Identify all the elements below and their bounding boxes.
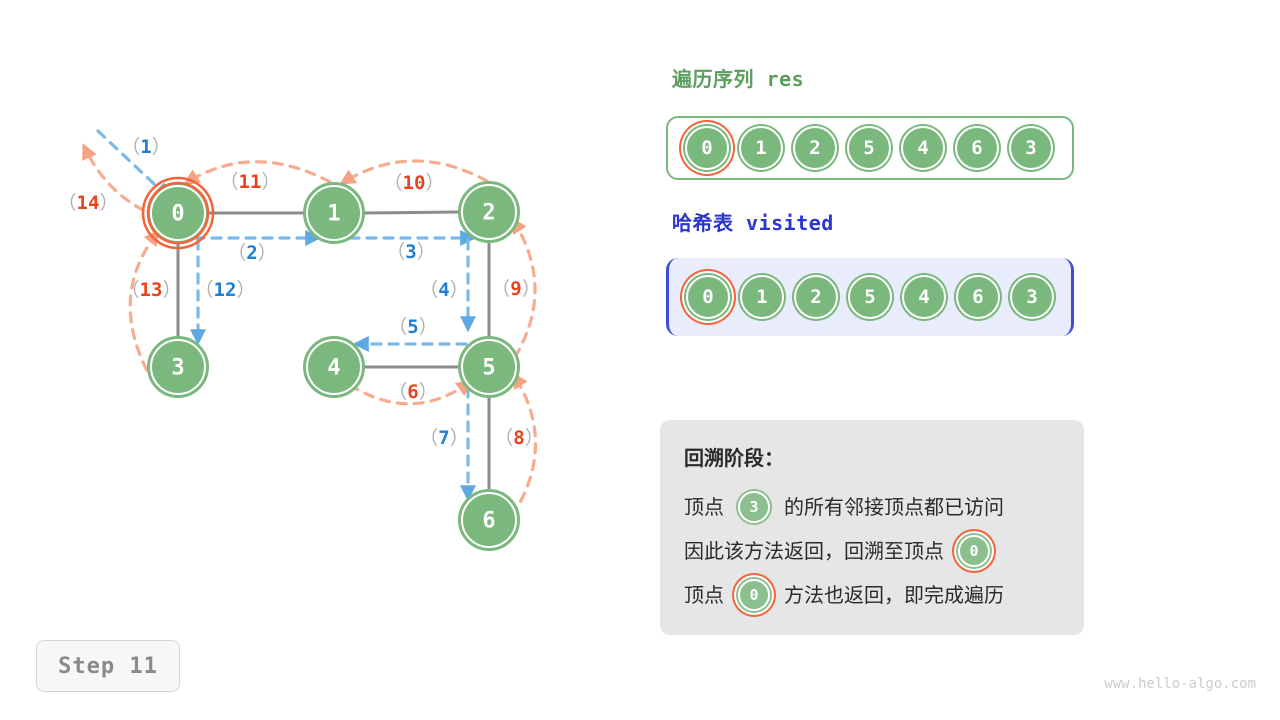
graph-node-3-label: 3: [171, 356, 184, 381]
visited-cell-5[interactable]: 6: [951, 275, 1005, 319]
graph-node-1[interactable]: 1: [304, 183, 364, 243]
step-order-labels: （1） （2） （3） （4） （5） （6） （7） （8） （9） （10）…: [58, 136, 544, 449]
explanation-node-0-line2: 0: [958, 535, 990, 567]
res-node-6: 3: [1009, 126, 1053, 170]
visited-cell-3[interactable]: 5: [843, 275, 897, 319]
visited-node-2: 2: [794, 275, 838, 319]
graph-node-6-label: 6: [482, 509, 495, 534]
res-node-0: 0: [685, 126, 729, 170]
res-title: 遍历序列 res: [672, 63, 804, 92]
step-label-3: （3）: [386, 241, 435, 263]
footer-url: www.hello-algo.com: [1104, 676, 1256, 692]
graph-nodes: 0 1 2 3 4 5: [143, 178, 519, 550]
graph-panel: 0 1 2 3 4 5: [0, 0, 640, 720]
graph-node-2-label: 2: [482, 201, 495, 226]
visited-node-4: 4: [902, 275, 946, 319]
edge-1-2: [364, 212, 459, 213]
graph-node-0-label: 0: [171, 202, 184, 227]
step-badge: Step 11: [36, 640, 180, 692]
explanation-line-2-text-a: 因此该方法返回，回溯至顶点: [684, 541, 944, 561]
visited-cell-2[interactable]: 2: [789, 275, 843, 319]
explanation-line-1-text-a: 顶点: [684, 497, 724, 517]
graph-node-0[interactable]: 0: [143, 178, 213, 248]
res-node-4: 4: [901, 126, 945, 170]
step-label-1: （1）: [121, 136, 170, 158]
step-label-8: （8）: [494, 427, 543, 449]
res-cell-5[interactable]: 6: [950, 126, 1004, 170]
graph-node-4[interactable]: 4: [304, 337, 364, 397]
explanation-line-2: 因此该方法返回，回溯至顶点 0: [684, 529, 1060, 573]
visited-node-3: 5: [848, 275, 892, 319]
graph-node-4-label: 4: [327, 356, 340, 381]
step-label-2: （2）: [227, 242, 276, 264]
explanation-line-1: 顶点 3 的所有邻接顶点都已访问: [684, 485, 1060, 529]
res-cell-1[interactable]: 1: [734, 126, 788, 170]
explanation-line-3-text-b: 方法也返回，即完成遍历: [784, 585, 1004, 605]
step-label-9: （9）: [491, 278, 540, 300]
res-cell-2[interactable]: 2: [788, 126, 842, 170]
res-node-1: 1: [739, 126, 783, 170]
step-label-6: （6）: [388, 381, 437, 403]
step-label-5: （5）: [388, 316, 437, 338]
visited-cell-4[interactable]: 4: [897, 275, 951, 319]
step-label-12: （12）: [195, 279, 256, 301]
right-panel: 遍历序列 res 0 1 2 5 4 6 3 哈希表 visited 0 1 2…: [640, 0, 1280, 720]
visited-node-1: 1: [740, 275, 784, 319]
step-label-10: （10）: [384, 172, 445, 194]
graph-node-1-label: 1: [327, 202, 340, 227]
graph-node-5-label: 5: [482, 356, 495, 381]
explanation-box: 回溯阶段： 顶点 3 的所有邻接顶点都已访问 因此该方法返回，回溯至顶点 0 顶…: [660, 420, 1084, 635]
visited-cell-0[interactable]: 0: [681, 275, 735, 319]
step-label-7: （7）: [419, 427, 468, 449]
step-label-14: （14）: [58, 192, 119, 214]
visited-node-6: 3: [1010, 275, 1054, 319]
res-node-3: 5: [847, 126, 891, 170]
explanation-node-3: 3: [738, 491, 770, 523]
res-node-5: 6: [955, 126, 999, 170]
visited-cell-6[interactable]: 3: [1005, 275, 1059, 319]
graph-node-6[interactable]: 6: [459, 490, 519, 550]
visited-cell-1[interactable]: 1: [735, 275, 789, 319]
explanation-line-3-text-a: 顶点: [684, 585, 724, 605]
dfs-graph-svg: 0 1 2 3 4 5: [0, 0, 640, 720]
explanation-node-0-line3: 0: [738, 579, 770, 611]
res-cell-6[interactable]: 3: [1004, 126, 1058, 170]
step-label-4: （4）: [419, 279, 468, 301]
graph-node-2[interactable]: 2: [459, 182, 519, 242]
visited-title: 哈希表 visited: [672, 207, 834, 236]
explanation-line-1-text-b: 的所有邻接顶点都已访问: [784, 497, 1004, 517]
res-cell-0[interactable]: 0: [680, 126, 734, 170]
res-node-2: 2: [793, 126, 837, 170]
visited-hashset: 0 1 2 5 4 6 3: [666, 258, 1074, 336]
res-cell-3[interactable]: 5: [842, 126, 896, 170]
step-label-11: （11）: [220, 171, 281, 193]
step-label-13: （13）: [121, 279, 182, 301]
visited-node-0: 0: [686, 275, 730, 319]
visited-node-5: 6: [956, 275, 1000, 319]
graph-node-5[interactable]: 5: [459, 337, 519, 397]
explanation-line-3: 顶点 0 方法也返回，即完成遍历: [684, 573, 1060, 617]
graph-node-3[interactable]: 3: [148, 337, 208, 397]
res-cell-4[interactable]: 4: [896, 126, 950, 170]
res-array: 0 1 2 5 4 6 3: [666, 116, 1074, 180]
explanation-heading: 回溯阶段：: [684, 442, 1060, 471]
